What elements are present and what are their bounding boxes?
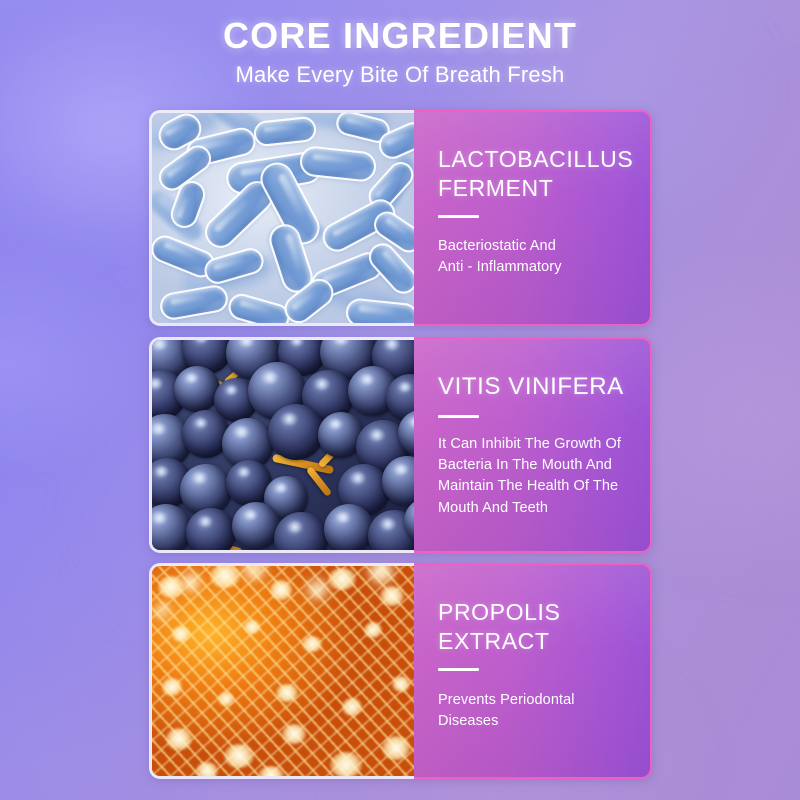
card-image-grapes: [149, 337, 414, 553]
card-description: Bacteriostatic And Anti - Inflammatory: [438, 236, 630, 279]
card-description: Prevents Periodontal Diseases: [438, 690, 630, 733]
ingredient-card-propolis-extract[interactable]: PROPOLIS EXTRACT Prevents Periodontal Di…: [149, 563, 652, 779]
card-title: VITIS VINIFERA: [438, 372, 630, 402]
card-title: PROPOLIS EXTRACT: [438, 598, 630, 655]
card-text-panel-vitis-vinifera: VITIS VINIFERA It Can Inhibit The Growth…: [414, 337, 652, 553]
bacteria-illustration: [152, 113, 414, 323]
ingredient-card-vitis-vinifera[interactable]: VITIS VINIFERA It Can Inhibit The Growth…: [149, 337, 652, 553]
card-image-lactobacillus: [149, 110, 414, 326]
page-subtitle: Make Every Bite Of Breath Fresh: [0, 62, 800, 88]
card-divider: [438, 415, 479, 418]
grapes-illustration: [152, 340, 414, 550]
page-title: CORE INGREDIENT: [0, 17, 800, 56]
card-image-propolis: [149, 563, 414, 779]
ingredient-card-list: LACTOBACILLUS FERMENT Bacteriostatic And…: [0, 0, 800, 800]
card-divider: [438, 215, 479, 218]
page-header: CORE INGREDIENT Make Every Bite Of Breat…: [0, 0, 800, 88]
card-description: It Can Inhibit The Growth Of Bacteria In…: [438, 434, 630, 519]
card-text-panel-lactobacillus: LACTOBACILLUS FERMENT Bacteriostatic And…: [414, 110, 652, 326]
propolis-illustration: [152, 566, 414, 776]
card-title: LACTOBACILLUS FERMENT: [438, 145, 630, 202]
card-text-panel-propolis-extract: PROPOLIS EXTRACT Prevents Periodontal Di…: [414, 563, 652, 779]
ingredient-card-lactobacillus-ferment[interactable]: LACTOBACILLUS FERMENT Bacteriostatic And…: [149, 110, 652, 326]
card-divider: [438, 668, 479, 671]
